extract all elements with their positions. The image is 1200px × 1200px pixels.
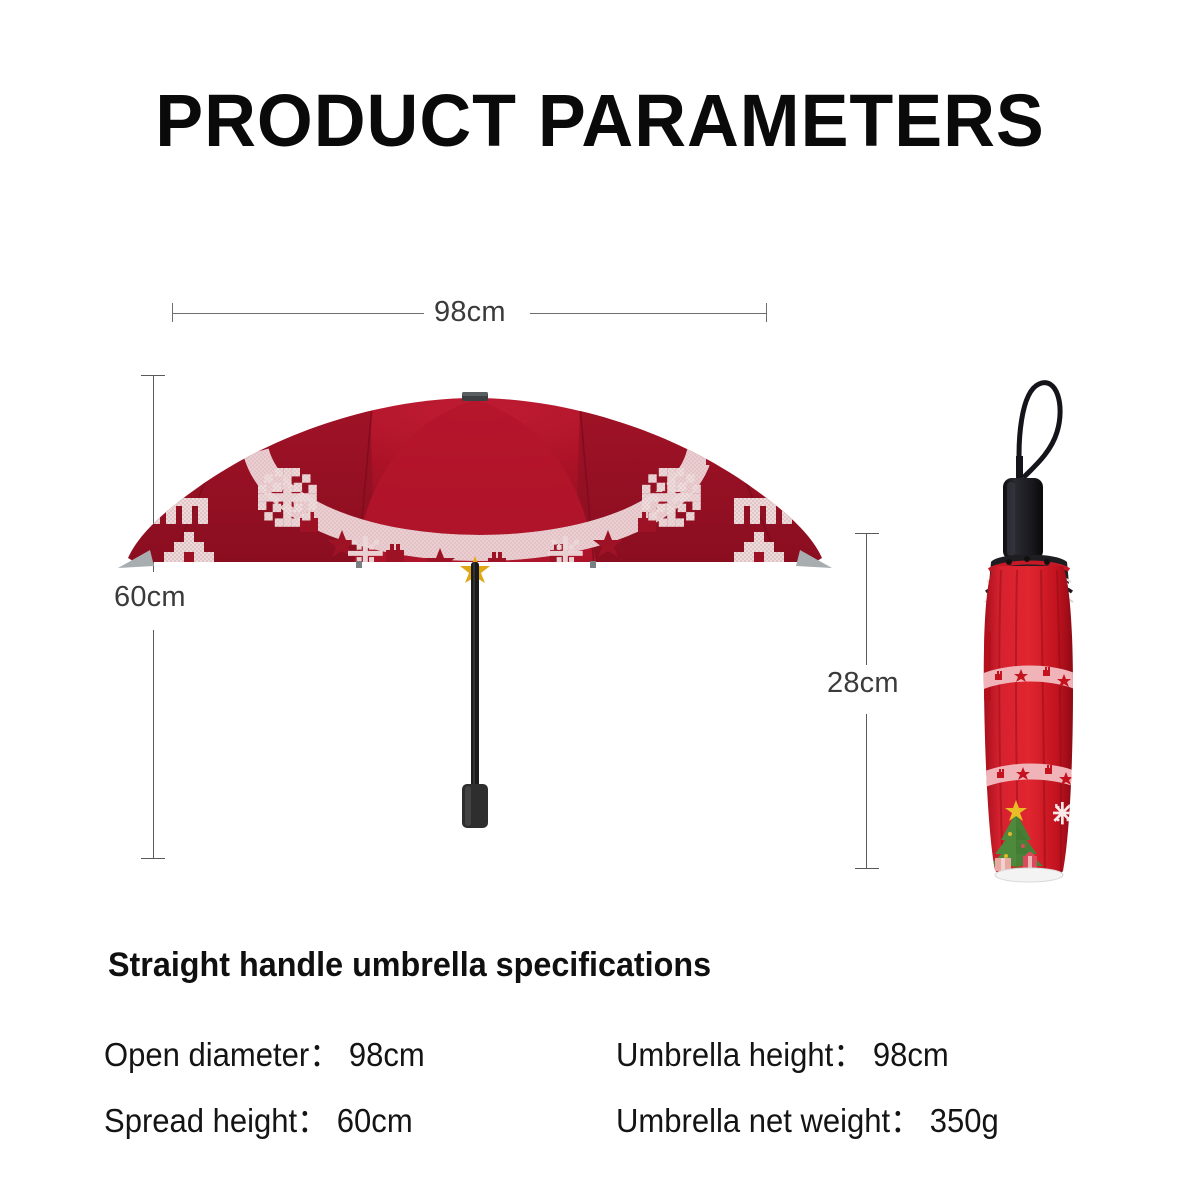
folded-length-line-top: [866, 533, 867, 665]
spec-open-diameter: Open diameter： 98cm: [104, 1028, 425, 1076]
page-title: PRODUCT PARAMETERS: [18, 82, 1182, 160]
wrist-strap: [1019, 383, 1060, 478]
width-dimension-tick-right: [766, 303, 767, 322]
open-umbrella-illustration: [110, 390, 840, 830]
product-parameters-page: PRODUCT PARAMETERS 98cm 60cm 28cm: [0, 0, 1200, 1200]
folded-length-line-bottom: [866, 714, 867, 868]
folded-length-tick-top: [855, 533, 879, 534]
width-dimension-label: 98cm: [434, 296, 506, 329]
spec-umbrella-net-weight: Umbrella net weight： 350g: [616, 1094, 999, 1142]
width-dimension-line-right: [530, 313, 767, 314]
spec-spread-height: Spread height： 60cm: [104, 1094, 413, 1142]
spread-height-tick-bottom: [141, 858, 165, 859]
spec-umbrella-height: Umbrella height： 98cm: [616, 1028, 949, 1076]
width-dimension-line-left: [172, 313, 424, 314]
folded-umbrella-bottom-cap: [995, 868, 1063, 882]
folded-length-tick-bottom: [855, 868, 879, 869]
folded-umbrella-illustration: [965, 370, 1095, 900]
spec-heading: Straight handle umbrella specifications: [108, 946, 711, 985]
